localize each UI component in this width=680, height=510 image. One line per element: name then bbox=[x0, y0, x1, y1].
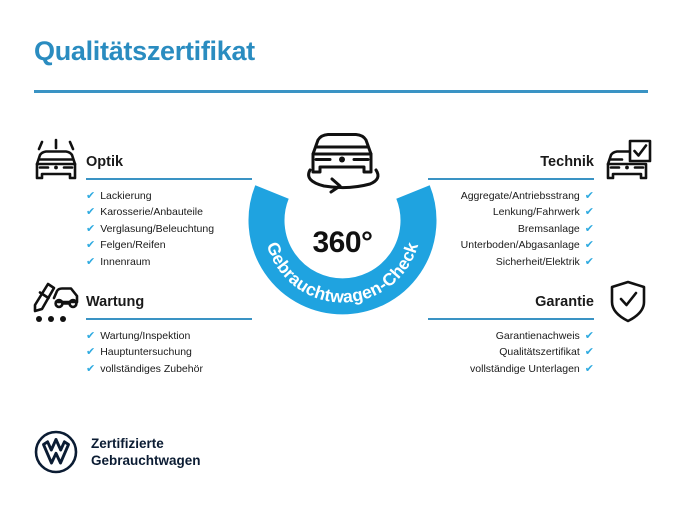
list-item: Aggregate/Antriebsstrang✔ bbox=[461, 188, 594, 204]
check-icon: ✔ bbox=[585, 363, 594, 375]
list-item: ✔vollständiges Zubehör bbox=[86, 361, 203, 377]
check-icon: ✔ bbox=[86, 223, 95, 235]
footer-text: Zertifizierte Gebrauchtwagen bbox=[91, 435, 201, 469]
section-list-garantie: Garantienachweis✔ Qualitätszertifikat✔ v… bbox=[470, 328, 594, 377]
service-pen-car-icon bbox=[30, 278, 80, 324]
list-item: ✔Verglasung/Beleuchtung bbox=[86, 221, 214, 237]
footer-line-2: Gebrauchtwagen bbox=[91, 452, 201, 469]
section-divider-optik bbox=[86, 178, 252, 180]
check-icon: ✔ bbox=[86, 256, 95, 268]
check-icon: ✔ bbox=[585, 346, 594, 358]
list-item: Unterboden/Abgasanlage✔ bbox=[461, 237, 594, 253]
list-item-label: Lenkung/Fahrwerk bbox=[493, 206, 580, 218]
list-item-label: Garantienachweis bbox=[496, 330, 580, 342]
list-item: vollständige Unterlagen✔ bbox=[470, 361, 594, 377]
section-list-optik: ✔Lackierung ✔Karosserie/Anbauteile ✔Verg… bbox=[86, 188, 214, 270]
certificate-page: Qualitätszertifikat Optik bbox=[0, 0, 680, 510]
section-list-technik: Aggregate/Antriebsstrang✔ Lenkung/Fahrwe… bbox=[461, 188, 594, 270]
check-icon: ✔ bbox=[585, 190, 594, 202]
list-item-label: Wartung/Inspektion bbox=[100, 330, 190, 342]
section-title-wartung: Wartung bbox=[86, 294, 144, 310]
badge-360-gebrauchtwagen-check: Gebrauchtwagen-Check 360° bbox=[240, 122, 445, 327]
shield-check-icon bbox=[602, 278, 652, 324]
list-item: Bremsanlage✔ bbox=[461, 221, 594, 237]
badge-degrees: 360° bbox=[240, 226, 445, 260]
list-item: ✔Innenraum bbox=[86, 254, 214, 270]
section-title-optik: Optik bbox=[86, 154, 123, 170]
list-item-label: Unterboden/Abgasanlage bbox=[461, 239, 580, 251]
section-divider-technik bbox=[428, 178, 594, 180]
check-icon: ✔ bbox=[585, 239, 594, 251]
check-icon: ✔ bbox=[86, 239, 95, 251]
check-icon: ✔ bbox=[86, 190, 95, 202]
footer-brand: Zertifizierte Gebrauchtwagen bbox=[34, 430, 201, 474]
check-icon: ✔ bbox=[585, 256, 594, 268]
list-item-label: Karosserie/Anbauteile bbox=[100, 206, 203, 218]
list-item-label: Innenraum bbox=[100, 256, 150, 268]
list-item-label: Aggregate/Antriebsstrang bbox=[461, 190, 580, 202]
list-item-label: Sicherheit/Elektrik bbox=[496, 256, 580, 268]
list-item: ✔Lackierung bbox=[86, 188, 214, 204]
list-item-label: Felgen/Reifen bbox=[100, 239, 165, 251]
list-item-label: Qualitätszertifikat bbox=[499, 346, 580, 358]
vw-logo bbox=[34, 430, 78, 474]
section-title-garantie: Garantie bbox=[535, 294, 594, 310]
list-item: Garantienachweis✔ bbox=[470, 328, 594, 344]
check-icon: ✔ bbox=[585, 223, 594, 235]
list-item: ✔Felgen/Reifen bbox=[86, 237, 214, 253]
check-icon: ✔ bbox=[86, 346, 95, 358]
list-item-label: Hauptuntersuchung bbox=[100, 346, 192, 358]
list-item: ✔Hauptuntersuchung bbox=[86, 344, 203, 360]
check-icon: ✔ bbox=[86, 206, 95, 218]
list-item-label: vollständige Unterlagen bbox=[470, 363, 580, 375]
section-divider-garantie bbox=[428, 318, 594, 320]
list-item: ✔Karosserie/Anbauteile bbox=[86, 204, 214, 220]
car-rotation-360-icon bbox=[309, 135, 378, 193]
list-item: ✔Wartung/Inspektion bbox=[86, 328, 203, 344]
list-item: Sicherheit/Elektrik✔ bbox=[461, 254, 594, 270]
page-title: Qualitätszertifikat bbox=[34, 36, 255, 67]
check-icon: ✔ bbox=[86, 363, 95, 375]
list-item-label: Verglasung/Beleuchtung bbox=[100, 223, 214, 235]
list-item: Lenkung/Fahrwerk✔ bbox=[461, 204, 594, 220]
footer-line-1: Zertifizierte bbox=[91, 435, 201, 452]
section-title-technik: Technik bbox=[540, 154, 594, 170]
list-item-label: vollständiges Zubehör bbox=[100, 363, 203, 375]
section-list-wartung: ✔Wartung/Inspektion ✔Hauptuntersuchung ✔… bbox=[86, 328, 203, 377]
check-icon: ✔ bbox=[585, 206, 594, 218]
car-front-checkbox-icon bbox=[602, 138, 652, 184]
car-front-shine-icon bbox=[30, 138, 80, 184]
list-item-label: Bremsanlage bbox=[518, 223, 580, 235]
check-icon: ✔ bbox=[86, 330, 95, 342]
list-item: Qualitätszertifikat✔ bbox=[470, 344, 594, 360]
check-icon: ✔ bbox=[585, 330, 594, 342]
header-divider bbox=[34, 90, 648, 93]
section-divider-wartung bbox=[86, 318, 252, 320]
list-item-label: Lackierung bbox=[100, 190, 151, 202]
